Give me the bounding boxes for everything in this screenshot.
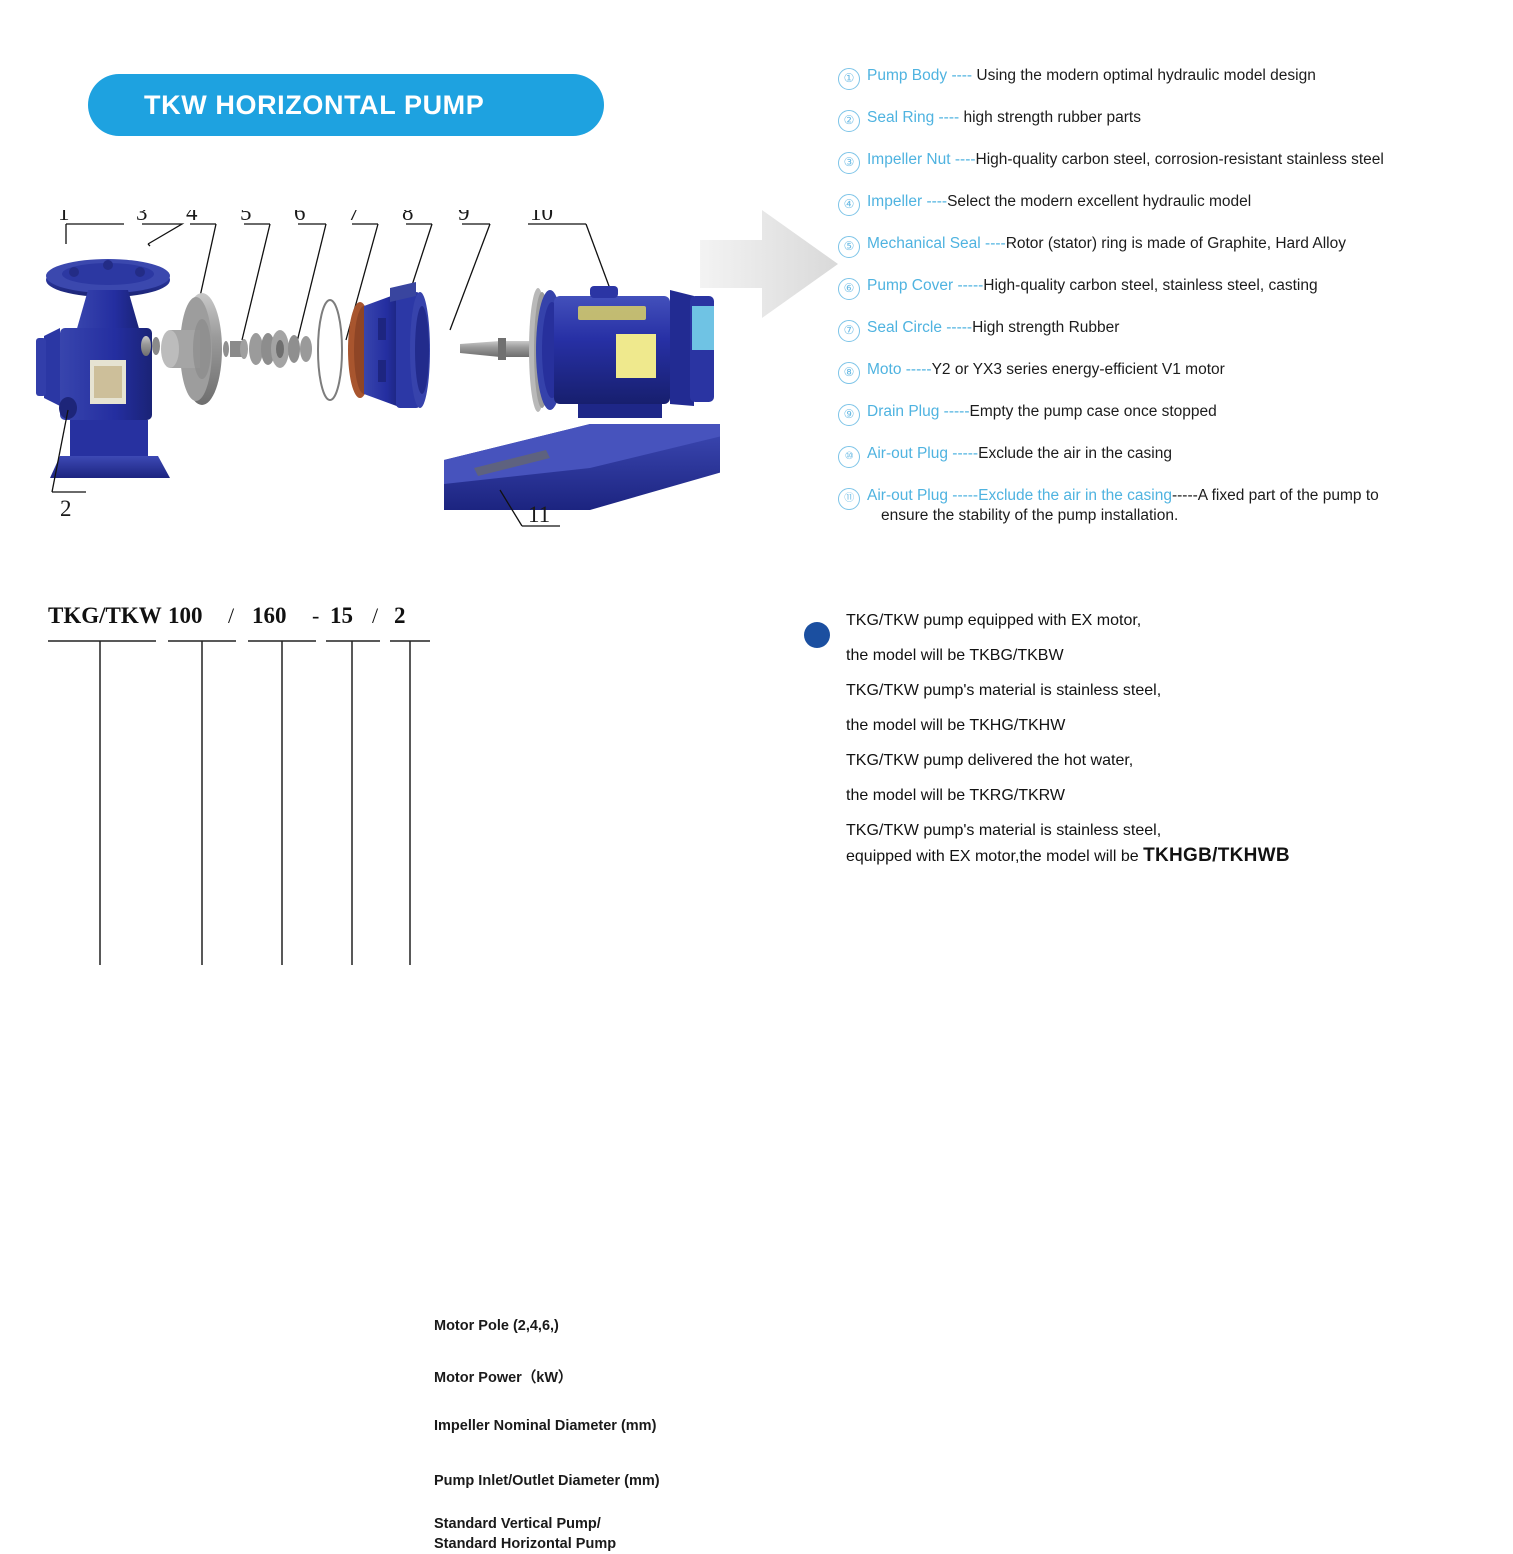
legend-item-3: ③ Impeller Nut ----High-quality carbon s… [838, 150, 1498, 174]
legend-item-text: Mechanical Seal ----Rotor (stator) ring … [867, 234, 1346, 254]
legend-desc: Exclude the air in the casing [978, 445, 1172, 462]
legend-number-badge: ⑨ [838, 404, 860, 426]
legend-desc: High strength Rubber [972, 319, 1119, 336]
model-label-pump-type: Standard Vertical Pump/ Standard Horizon… [434, 1515, 616, 1554]
note-line-4: the model will be TKHG/TKHW [846, 717, 1420, 735]
legend-part-name: Impeller [867, 193, 922, 210]
model-label-motor-power: Motor Power（kW） [434, 1366, 573, 1387]
legend-desc: Empty the pump case once stopped [970, 403, 1217, 420]
legend-item-text: Air-out Plug -----Exclude the air in the… [867, 486, 1379, 526]
legend-number-badge: ⑤ [838, 236, 860, 258]
legend-item-7: ⑦ Seal Circle -----High strength Rubber [838, 318, 1498, 342]
svg-text:9: 9 [458, 210, 470, 225]
legend-part-name: Moto [867, 361, 901, 378]
page-title: TKW HORIZONTAL PUMP [88, 90, 484, 121]
legend-desc: High-quality carbon steel, stainless ste… [983, 277, 1317, 294]
legend-dash: ----- [948, 445, 978, 462]
legend-dash: ---- [922, 193, 947, 210]
svg-text:6: 6 [294, 210, 306, 225]
note-line-6: the model will be TKRG/TKRW [846, 787, 1420, 805]
note-line-5: TKG/TKW pump delivered the hot water, [846, 752, 1420, 770]
note-line-8: equipped with EX motor,the model will be… [846, 845, 1420, 867]
svg-text:2: 2 [60, 496, 72, 521]
right-arrow-icon [700, 208, 840, 320]
note-line-3: TKG/TKW pump's material is stainless ste… [846, 682, 1420, 700]
legend-part-name: Impeller Nut [867, 151, 951, 168]
legend-item-11: ⑪ Air-out Plug -----Exclude the air in t… [838, 486, 1498, 526]
model-variants-notes: TKG/TKW pump equipped with EX motor, the… [800, 612, 1420, 884]
legend-item-text: Impeller Nut ----High-quality carbon ste… [867, 150, 1384, 170]
legend-dash: ---- [981, 235, 1006, 252]
legend-item-text: Drain Plug -----Empty the pump case once… [867, 402, 1217, 422]
page-title-banner: TKW HORIZONTAL PUMP [88, 74, 604, 136]
legend-item-4: ④ Impeller ----Select the modern excelle… [838, 192, 1498, 216]
svg-text:3: 3 [136, 210, 148, 225]
legend-part-name: Air-out Plug [867, 445, 948, 462]
legend-item-text: Moto -----Y2 or YX3 series energy-effici… [867, 360, 1225, 380]
legend-part-name: Seal Circle [867, 319, 942, 336]
model-label-impeller-diameter: Impeller Nominal Diameter (mm) [434, 1418, 656, 1434]
legend-item-6: ⑥ Pump Cover -----High-quality carbon st… [838, 276, 1498, 300]
legend-item-1: ① Pump Body ---- Using the modern optima… [838, 66, 1498, 90]
legend-desc: High-quality carbon steel, corrosion-res… [976, 151, 1384, 168]
model-label-motor-pole: Motor Pole (2,4,6,) [434, 1318, 559, 1334]
parts-legend: ① Pump Body ---- Using the modern optima… [838, 66, 1498, 526]
seal-circle-part [318, 300, 342, 400]
legend-number-badge: ⑥ [838, 278, 860, 300]
legend-item-10: ⑩ Air-out Plug -----Exclude the air in t… [838, 444, 1498, 468]
legend-desc: Rotor (stator) ring is made of Graphite,… [1006, 235, 1346, 252]
svg-text:4: 4 [186, 210, 198, 225]
legend-item-9: ⑨ Drain Plug -----Empty the pump case on… [838, 402, 1498, 426]
legend-dash: ----- [953, 277, 983, 294]
legend-item-text: Impeller ----Select the modern excellent… [867, 192, 1251, 212]
model-label-inlet-diameter: Pump Inlet/Outlet Diameter (mm) [434, 1473, 660, 1489]
legend-desc: A fixed part of the pump to [1198, 487, 1379, 504]
svg-text:7: 7 [348, 210, 360, 225]
note-line-1: TKG/TKW pump equipped with EX motor, [846, 612, 1420, 630]
legend-item-text: Seal Ring ---- high strength rubber part… [867, 108, 1141, 128]
legend-number-badge: ③ [838, 152, 860, 174]
legend-desc: Using the modern optimal hydraulic model… [976, 67, 1315, 84]
legend-desc-line2: ensure the stability of the pump install… [881, 506, 1379, 526]
legend-dash: ----- [901, 361, 931, 378]
legend-item-8: ⑧ Moto -----Y2 or YX3 series energy-effi… [838, 360, 1498, 384]
legend-desc: high strength rubber parts [963, 109, 1141, 126]
legend-item-text: Pump Cover -----High-quality carbon stee… [867, 276, 1318, 296]
legend-item-text: Air-out Plug -----Exclude the air in the… [867, 444, 1172, 464]
note-line-7: TKG/TKW pump's material is stainless ste… [846, 822, 1420, 840]
legend-desc: Select the modern excellent hydraulic mo… [947, 193, 1251, 210]
legend-number-badge: ⑪ [838, 488, 860, 510]
legend-number-badge: ⑧ [838, 362, 860, 384]
legend-dash: ---- [934, 109, 963, 126]
note-final-model: TKHGB/TKHWB [1143, 845, 1290, 866]
legend-number-badge: ⑦ [838, 320, 860, 342]
base-plate-part [444, 424, 720, 526]
exploded-pump-diagram: 1 3 4 5 6 7 8 9 10 2 11 [30, 210, 720, 560]
note-final-prefix: equipped with EX motor,the model will be [846, 848, 1143, 865]
svg-text:1: 1 [58, 210, 70, 225]
svg-text:5: 5 [240, 210, 252, 225]
legend-item-2: ② Seal Ring ---- high strength rubber pa… [838, 108, 1498, 132]
legend-item-5: ⑤ Mechanical Seal ----Rotor (stator) rin… [838, 234, 1498, 258]
legend-item-text: Seal Circle -----High strength Rubber [867, 318, 1119, 338]
legend-item-text: Pump Body ---- Using the modern optimal … [867, 66, 1316, 86]
legend-part-name: Mechanical Seal [867, 235, 981, 252]
legend-dash-2: ----- [1172, 487, 1198, 504]
legend-dash: ----- [939, 403, 969, 420]
legend-desc: Y2 or YX3 series energy-efficient V1 mot… [932, 361, 1225, 378]
legend-part-name: Air-out Plug [867, 487, 948, 504]
impeller-part [141, 293, 222, 405]
legend-part-name: Seal Ring [867, 109, 934, 126]
model-label-pump-type-line1: Standard Vertical Pump/ [434, 1515, 616, 1535]
motor-part [460, 286, 714, 418]
legend-part-name: Pump Body [867, 67, 947, 84]
legend-part-name: Pump Cover [867, 277, 953, 294]
legend-number-badge: ⑩ [838, 446, 860, 468]
poster-canvas: TKW HORIZONTAL PUMP [0, 0, 1513, 1000]
legend-dash: ---- [951, 151, 976, 168]
pump-cover-part [348, 282, 430, 408]
legend-number-badge: ④ [838, 194, 860, 216]
svg-text:11: 11 [528, 502, 550, 527]
legend-desc-blue: Exclude the air in the casing [978, 487, 1172, 504]
legend-number-badge: ① [838, 68, 860, 90]
bullet-dot-icon [804, 622, 830, 648]
legend-dash: ----- [942, 319, 972, 336]
svg-text:10: 10 [530, 210, 553, 225]
legend-dash: ---- [947, 67, 976, 84]
model-label-pump-type-line2: Standard Horizontal Pump [434, 1535, 616, 1554]
note-line-2: the model will be TKBG/TKBW [846, 647, 1420, 665]
legend-part-name: Drain Plug [867, 403, 939, 420]
model-code-leader-lines [30, 595, 730, 965]
model-code-breakdown: TKG/TKW 100 / 160 - 15 / 2 [30, 595, 730, 965]
legend-number-badge: ② [838, 110, 860, 132]
pump-body-part [36, 259, 170, 492]
legend-dash: ----- [948, 487, 978, 504]
svg-text:8: 8 [402, 210, 414, 225]
